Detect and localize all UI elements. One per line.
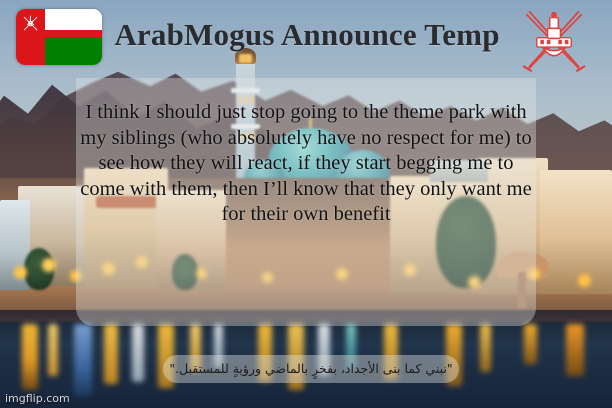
water-reflection: [132, 324, 144, 382]
oman-national-emblem-icon: [516, 6, 592, 78]
street-light-glow: [14, 266, 27, 279]
water-reflection: [48, 324, 58, 376]
water-reflection: [104, 324, 118, 384]
water-reflection: [524, 324, 537, 364]
street-light-glow: [578, 274, 591, 287]
announcement-text: I think I should just stop going to the …: [76, 100, 536, 228]
flag-red-stripe: [45, 30, 102, 37]
meme-canvas: ArabMogus Announce Temp: [0, 0, 612, 408]
oman-emblem-icon: [21, 14, 41, 34]
meme-header: ArabMogus Announce Temp: [0, 0, 612, 72]
footer-arabic-caption: "نبني كما بنى الأجداد، بفخرٍ بالماضي ورؤ…: [150, 358, 472, 380]
flag-green-band: [45, 37, 102, 65]
building: [540, 170, 612, 294]
water-reflection: [480, 324, 491, 372]
water-reflection: [74, 324, 92, 396]
water-reflection: [566, 324, 584, 376]
street-light-glow: [42, 258, 56, 272]
page-title: ArabMogus Announce Temp: [112, 12, 502, 58]
oman-flag-icon: [16, 9, 102, 65]
water-reflection: [22, 324, 38, 390]
imgflip-watermark: imgflip.com: [5, 392, 70, 405]
